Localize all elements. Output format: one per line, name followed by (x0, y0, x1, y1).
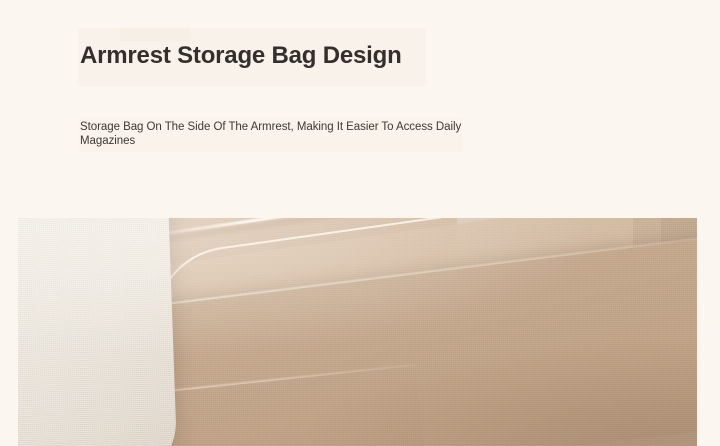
product-detail-page: Armrest Storage Bag Design Storage Bag O… (0, 0, 720, 446)
header-text-section: Armrest Storage Bag Design Storage Bag O… (0, 0, 720, 218)
product-photo-canvas: ЕST Forest Wood Furniture 森木家具 (18, 218, 697, 446)
fabric-texture-overlay (18, 218, 697, 446)
product-photo: ЕST Forest Wood Furniture 森木家具 (18, 218, 697, 446)
page-title: Armrest Storage Bag Design (80, 41, 402, 71)
title-accent-band (120, 28, 190, 41)
page-subtitle: Storage Bag On The Side Of The Armrest, … (80, 121, 472, 148)
